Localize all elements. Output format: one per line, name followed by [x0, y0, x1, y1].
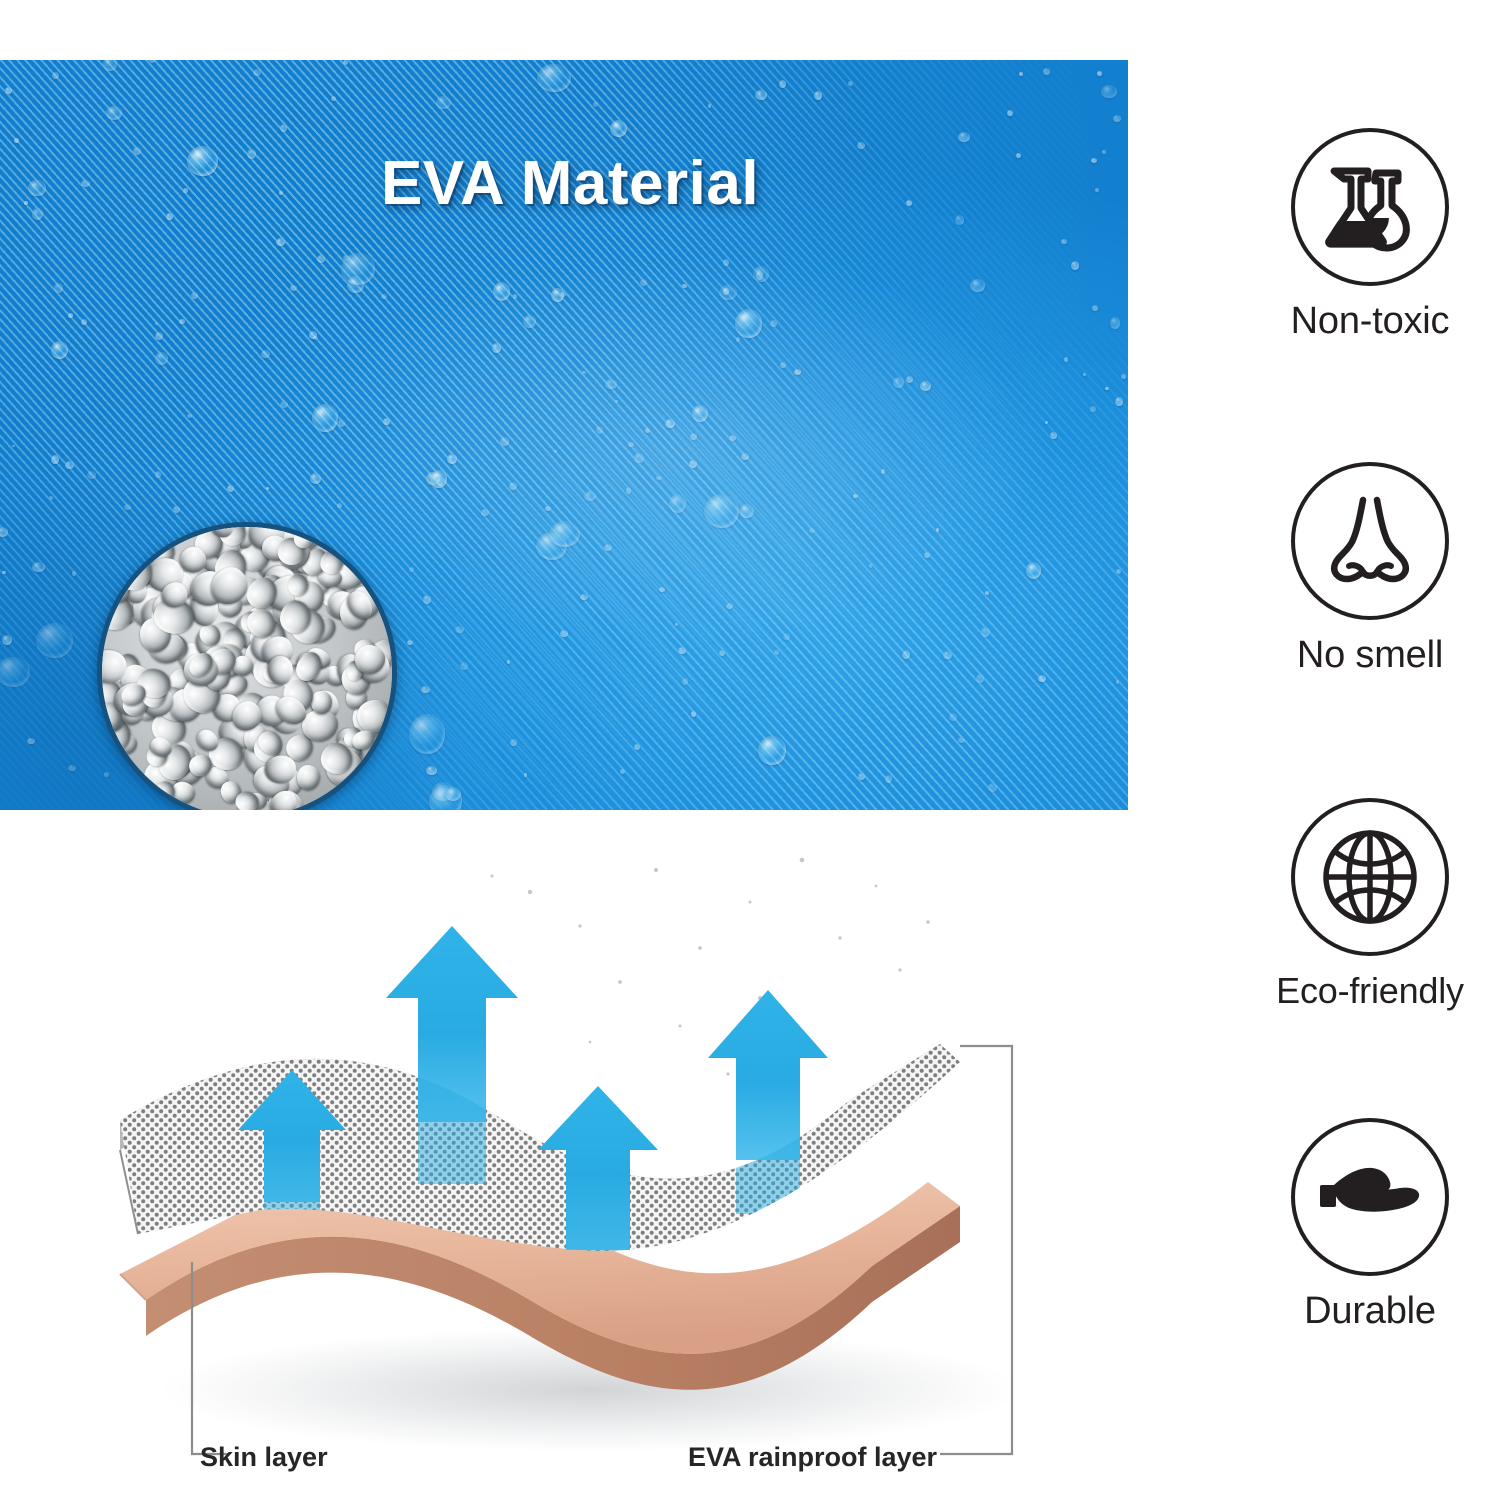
water-droplet: [1061, 239, 1067, 244]
water-droplet: [610, 120, 627, 137]
water-droplet: [780, 362, 786, 367]
water-droplet: [596, 426, 603, 433]
water-droplet: [1116, 680, 1119, 683]
water-droplet: [481, 509, 489, 515]
water-droplet: [719, 285, 737, 301]
water-droplet: [409, 714, 445, 754]
water-droplet: [507, 660, 510, 664]
water-droplet: [280, 124, 287, 132]
water-droplet: [227, 485, 234, 492]
water-droplet: [626, 487, 632, 493]
feature-label: Non-toxic: [1240, 302, 1500, 342]
water-droplet: [902, 650, 911, 659]
water-droplet: [1050, 432, 1056, 439]
water-droplet: [665, 419, 675, 428]
feature-icon-frame: [1291, 1118, 1449, 1276]
water-droplet: [675, 623, 678, 626]
water-droplet: [936, 528, 940, 532]
water-droplet: [545, 506, 550, 511]
feature-icon-frame: [1291, 128, 1449, 286]
water-droplet: [814, 91, 823, 100]
water-droplet: [72, 571, 77, 576]
eva-pellets-inset: [97, 522, 397, 810]
water-droplet: [68, 765, 76, 771]
water-droplet: [87, 471, 96, 479]
water-droplet: [155, 352, 168, 365]
water-droplet: [783, 633, 789, 640]
water-droplet: [492, 343, 501, 353]
water-droplet: [49, 496, 53, 501]
water-droplet: [1038, 675, 1046, 683]
water-droplet: [582, 371, 586, 374]
water-droplet: [779, 80, 786, 88]
water-droplet: [52, 72, 58, 79]
water-droplet: [605, 379, 616, 389]
feature-icon-frame: [1291, 462, 1449, 620]
water-droplet: [881, 469, 885, 474]
water-droplet: [669, 494, 687, 513]
water-droplet: [1092, 305, 1098, 311]
water-droplet: [906, 376, 913, 383]
water-droplet: [124, 504, 131, 511]
water-droplet: [337, 503, 342, 508]
water-droplet: [513, 294, 517, 298]
water-droplet: [1101, 85, 1116, 98]
water-droplet: [460, 662, 467, 670]
water-droplet: [331, 96, 335, 101]
water-droplet: [726, 603, 733, 609]
water-droplet: [981, 627, 990, 636]
feature-label: No smell: [1240, 636, 1500, 676]
water-droplet: [337, 420, 345, 427]
layer-structure-diagram: Skin layer EVA rainproof layer: [60, 830, 1120, 1500]
water-droplet: [753, 266, 769, 283]
water-droplet: [455, 626, 464, 633]
water-droplet: [173, 506, 180, 513]
water-droplet: [103, 60, 116, 71]
water-droplet: [14, 138, 20, 143]
water-droplet: [1090, 406, 1096, 411]
skin-layer-label: Skin layer: [200, 1442, 328, 1473]
water-droplet: [970, 279, 985, 293]
water-droplet: [758, 736, 785, 765]
water-droplet: [794, 369, 801, 375]
water-droplet: [949, 713, 957, 721]
water-droplet: [381, 294, 387, 299]
water-droplet: [659, 587, 665, 592]
feature-label: Eco-friendly: [1240, 972, 1500, 1010]
water-droplet: [615, 400, 618, 403]
water-droplet: [5, 87, 11, 94]
open-hand-icon: [1314, 1141, 1426, 1253]
water-droplet: [290, 285, 297, 291]
water-droplet: [106, 106, 122, 120]
water-droplet: [988, 783, 997, 791]
feature-icon-frame: [1291, 798, 1449, 956]
water-droplet: [12, 445, 15, 448]
water-droplet: [54, 283, 63, 293]
water-droplet: [537, 64, 571, 92]
infographic-page: EVA Material: [0, 0, 1500, 1500]
water-droplet: [729, 435, 736, 441]
water-droplet: [155, 471, 161, 477]
water-droplet: [65, 461, 73, 468]
water-droplet: [309, 331, 317, 339]
water-droplet: [500, 437, 509, 445]
water-droplet: [81, 319, 87, 325]
water-droplet: [739, 504, 754, 518]
eva-pellet: [114, 553, 153, 592]
water-droplet: [36, 623, 72, 657]
water-droplet: [509, 482, 518, 490]
water-droplet: [276, 238, 285, 247]
water-droplet: [1097, 71, 1102, 76]
water-droplet: [704, 494, 738, 527]
water-droplet: [656, 476, 661, 480]
eva-rainproof-layer-label: EVA rainproof layer: [688, 1442, 937, 1473]
water-droplet: [736, 337, 741, 342]
water-droplet: [1045, 421, 1048, 425]
water-droplet: [735, 309, 761, 338]
water-droplet: [604, 544, 612, 551]
eva-material-photo-panel: EVA Material: [0, 60, 1128, 810]
water-droplet: [426, 766, 438, 776]
water-droplet: [510, 739, 517, 746]
water-droplet: [682, 284, 686, 288]
water-droplet: [741, 453, 749, 461]
nose-icon: [1319, 490, 1421, 592]
water-droplet: [524, 773, 527, 776]
water-droplet: [853, 494, 858, 499]
water-droplet: [920, 381, 931, 391]
page-title: EVA Material: [0, 148, 1128, 219]
water-droplet: [1083, 373, 1086, 376]
water-droplet: [266, 487, 269, 490]
water-droplet: [885, 775, 892, 782]
water-droplet: [691, 711, 696, 716]
feature-icons-column: Non-toxic: [1240, 0, 1500, 1500]
water-droplet: [893, 377, 904, 388]
water-droplet: [179, 319, 185, 324]
water-droplet: [253, 69, 262, 77]
feature-eco-friendly[interactable]: Eco-friendly: [1240, 798, 1500, 1010]
water-droplet: [407, 640, 413, 645]
water-droplet: [51, 455, 59, 464]
water-droplet: [848, 81, 852, 86]
water-droplet: [723, 259, 729, 266]
water-droplet: [436, 96, 451, 110]
water-droplet: [32, 562, 44, 572]
water-droplet: [770, 320, 777, 327]
water-droplet: [187, 414, 192, 418]
water-droplet: [149, 60, 155, 63]
water-droplet: [593, 102, 598, 107]
water-droplet: [1071, 261, 1080, 270]
water-droplet: [2, 571, 6, 575]
water-droplet: [383, 418, 391, 425]
water-droplet: [774, 650, 779, 655]
water-droplet: [584, 491, 596, 501]
water-droplet: [692, 405, 708, 422]
water-droplet: [191, 292, 198, 298]
water-droplet: [1116, 569, 1121, 574]
water-droplet: [560, 630, 567, 637]
water-droplet: [985, 591, 989, 594]
chemistry-flask-icon: [1318, 155, 1422, 259]
water-droplet: [678, 647, 686, 654]
water-droplet: [554, 450, 557, 453]
water-droplet: [317, 255, 325, 263]
water-droplet: [423, 595, 431, 604]
water-droplet: [341, 253, 376, 285]
water-droplet: [523, 315, 536, 328]
water-droplet: [1121, 374, 1126, 379]
feature-label: Durable: [1240, 1292, 1500, 1332]
feature-durable[interactable]: Durable: [1240, 1118, 1500, 1332]
water-droplet: [689, 460, 697, 468]
water-droplet: [708, 104, 711, 108]
water-droplet: [430, 470, 447, 488]
water-droplet: [27, 738, 34, 745]
feature-no-smell[interactable]: No smell: [1240, 462, 1500, 676]
water-droplet: [155, 332, 163, 340]
water-droplet: [261, 350, 270, 358]
water-droplet: [719, 650, 725, 656]
water-droplet: [924, 552, 931, 558]
water-droplet: [634, 744, 640, 750]
water-droplet: [580, 594, 588, 601]
water-droplet: [310, 473, 320, 483]
water-droplet: [447, 454, 457, 464]
water-droplet: [343, 60, 348, 65]
water-droplet: [943, 651, 951, 659]
water-droplet: [1064, 357, 1069, 362]
water-droplet: [51, 341, 68, 359]
eva-pellet: [297, 765, 321, 791]
water-droplet: [690, 433, 697, 439]
speckle-dust: [491, 858, 930, 1076]
globe-icon: [1315, 822, 1425, 932]
water-droplet: [2, 635, 12, 645]
water-droplet: [549, 521, 580, 547]
water-droplet: [1007, 110, 1013, 117]
water-droplet: [620, 769, 625, 774]
water-droplet: [1026, 562, 1041, 578]
water-droplet: [445, 787, 461, 801]
water-droplet: [551, 288, 564, 302]
water-droplet: [0, 657, 30, 686]
water-droplet: [1113, 115, 1121, 122]
water-droplet: [493, 282, 510, 301]
water-droplet: [1043, 68, 1050, 74]
water-droplet: [1019, 72, 1023, 76]
water-droplet: [409, 567, 414, 571]
water-droplet: [858, 773, 865, 780]
water-droplet: [976, 674, 984, 683]
water-droplet: [634, 453, 644, 463]
water-droplet: [645, 428, 649, 433]
water-droplet: [0, 527, 8, 537]
water-droplet: [958, 737, 966, 744]
water-droplet: [958, 132, 970, 142]
water-droplet: [155, 322, 159, 325]
water-droplet: [640, 279, 647, 286]
water-droplet: [755, 90, 766, 100]
water-droplet: [628, 442, 634, 448]
feature-non-toxic[interactable]: Non-toxic: [1240, 128, 1500, 342]
water-droplet: [1115, 397, 1123, 406]
water-droplet: [1110, 317, 1120, 328]
water-droplet: [682, 678, 689, 685]
water-droplet: [1105, 387, 1109, 390]
water-droplet: [68, 313, 74, 318]
water-droplet: [312, 404, 337, 432]
water-droplet: [421, 686, 430, 693]
pellets-group: [102, 527, 392, 810]
water-droplet: [869, 564, 872, 567]
water-droplet: [280, 401, 288, 408]
layer-diagram-illustration: [60, 830, 1120, 1500]
water-droplet: [809, 528, 814, 533]
